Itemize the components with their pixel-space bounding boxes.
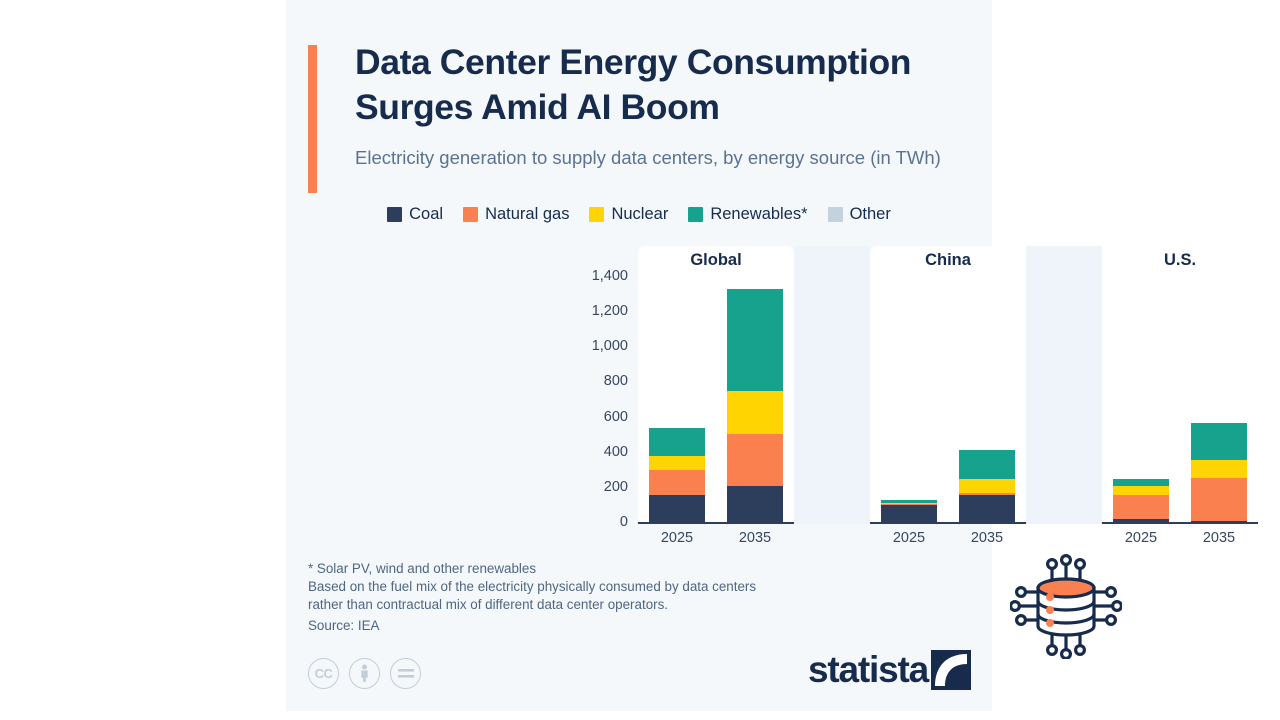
bar-segment-natural-gas[interactable]: [959, 493, 1015, 495]
by-icon[interactable]: [349, 658, 380, 689]
bar-segment-coal[interactable]: [959, 495, 1015, 522]
legend-item[interactable]: Nuclear: [589, 205, 668, 224]
legend-item[interactable]: Natural gas: [463, 205, 569, 224]
panel-gap: [1026, 246, 1102, 524]
footnote-methodology-1: Based on the fuel mix of the electricity…: [308, 578, 908, 596]
bar-segment-natural-gas[interactable]: [1191, 478, 1247, 521]
x-axis-baseline: [638, 522, 794, 524]
x-axis-tick-label: 2025: [871, 530, 947, 546]
panel-title-china: China: [870, 251, 1026, 270]
source-label: Source: IEA: [308, 618, 379, 633]
bar-segment-nuclear[interactable]: [959, 479, 1015, 493]
page-title: Data Center Energy Consumption Surges Am…: [355, 40, 1005, 130]
page-subtitle: Electricity generation to supply data ce…: [355, 144, 975, 172]
stacked-bar-chart: 02004006008001,0001,2001,400Global202520…: [286, 246, 992, 552]
x-axis-tick-label: 2035: [717, 530, 793, 546]
chart-legend: CoalNatural gasNuclearRenewables*Other: [286, 205, 992, 224]
statista-logo: statista: [808, 650, 971, 690]
footnote-renewables: * Solar PV, wind and other renewables: [308, 560, 908, 578]
y-axis-tick-label: 400: [572, 444, 628, 460]
panel-gap: [794, 246, 870, 524]
bar-segment-renewables[interactable]: [1113, 479, 1169, 486]
x-axis-tick-label: 2035: [949, 530, 1025, 546]
panel-title-us: U.S.: [1102, 251, 1258, 270]
bar-segment-renewables[interactable]: [959, 450, 1015, 479]
x-axis-tick-label: 2025: [639, 530, 715, 546]
x-axis-tick-label: 2035: [1181, 530, 1257, 546]
bar-segment-coal[interactable]: [649, 495, 705, 522]
x-axis-baseline: [870, 522, 1026, 524]
legend-label: Natural gas: [485, 205, 569, 224]
bar-segment-nuclear[interactable]: [1191, 460, 1247, 478]
y-axis-tick-label: 600: [572, 409, 628, 425]
legend-item[interactable]: Coal: [387, 205, 443, 224]
statista-wordmark: statista: [808, 650, 928, 690]
legend-swatch-renewables: [688, 207, 703, 222]
bar-segment-nuclear[interactable]: [881, 503, 937, 504]
bar-segment-natural-gas[interactable]: [881, 504, 937, 505]
bar-segment-renewables[interactable]: [1191, 423, 1247, 460]
legend-swatch-coal: [387, 207, 402, 222]
x-axis-baseline: [1102, 522, 1258, 524]
panel-title-global: Global: [638, 251, 794, 270]
bar-segment-natural-gas[interactable]: [649, 470, 705, 495]
bar-segment-nuclear[interactable]: [649, 456, 705, 470]
server-database-icon: [1010, 554, 1122, 659]
infographic-card: Data Center Energy Consumption Surges Am…: [286, 0, 992, 711]
bar-segment-coal[interactable]: [1191, 521, 1247, 522]
y-axis-tick-label: 0: [572, 514, 628, 530]
stacked-bar[interactable]: [1191, 276, 1247, 522]
legend-swatch-nuclear: [589, 207, 604, 222]
y-axis-tick-label: 1,400: [572, 268, 628, 284]
y-axis-tick-label: 1,200: [572, 303, 628, 319]
bar-segment-renewables[interactable]: [727, 289, 783, 391]
bar-segment-renewables[interactable]: [649, 428, 705, 456]
statista-mark-icon: [931, 650, 971, 690]
stacked-bar[interactable]: [881, 276, 937, 522]
bar-segment-natural-gas[interactable]: [1113, 495, 1169, 519]
y-axis-tick-label: 200: [572, 479, 628, 495]
legend-swatch-other: [828, 207, 843, 222]
stacked-bar[interactable]: [727, 276, 783, 522]
x-axis-tick-label: 2025: [1103, 530, 1179, 546]
footnote-methodology-2: rather than contractual mix of different…: [308, 596, 908, 614]
y-axis-tick-label: 800: [572, 373, 628, 389]
footnotes: * Solar PV, wind and other renewables Ba…: [308, 560, 908, 613]
stacked-bar[interactable]: [1113, 276, 1169, 522]
bar-segment-coal[interactable]: [727, 486, 783, 522]
y-axis-tick-label: 1,000: [572, 338, 628, 354]
bar-segment-coal[interactable]: [1113, 519, 1169, 522]
bar-segment-nuclear[interactable]: [1113, 486, 1169, 495]
legend-label: Nuclear: [611, 205, 668, 224]
legend-label: Renewables*: [710, 205, 807, 224]
creative-commons-icons: CC: [308, 658, 421, 689]
bar-segment-nuclear[interactable]: [727, 391, 783, 435]
bar-segment-natural-gas[interactable]: [727, 434, 783, 486]
accent-bar: [308, 45, 317, 193]
stacked-bar[interactable]: [649, 276, 705, 522]
bar-segment-coal[interactable]: [881, 505, 937, 522]
nd-icon[interactable]: [390, 658, 421, 689]
legend-item[interactable]: Other: [828, 205, 891, 224]
legend-label: Other: [850, 205, 891, 224]
stacked-bar[interactable]: [959, 276, 1015, 522]
cc-icon[interactable]: CC: [308, 658, 339, 689]
bar-segment-renewables[interactable]: [881, 500, 937, 503]
legend-item[interactable]: Renewables*: [688, 205, 807, 224]
legend-label: Coal: [409, 205, 443, 224]
legend-swatch-natural-gas: [463, 207, 478, 222]
